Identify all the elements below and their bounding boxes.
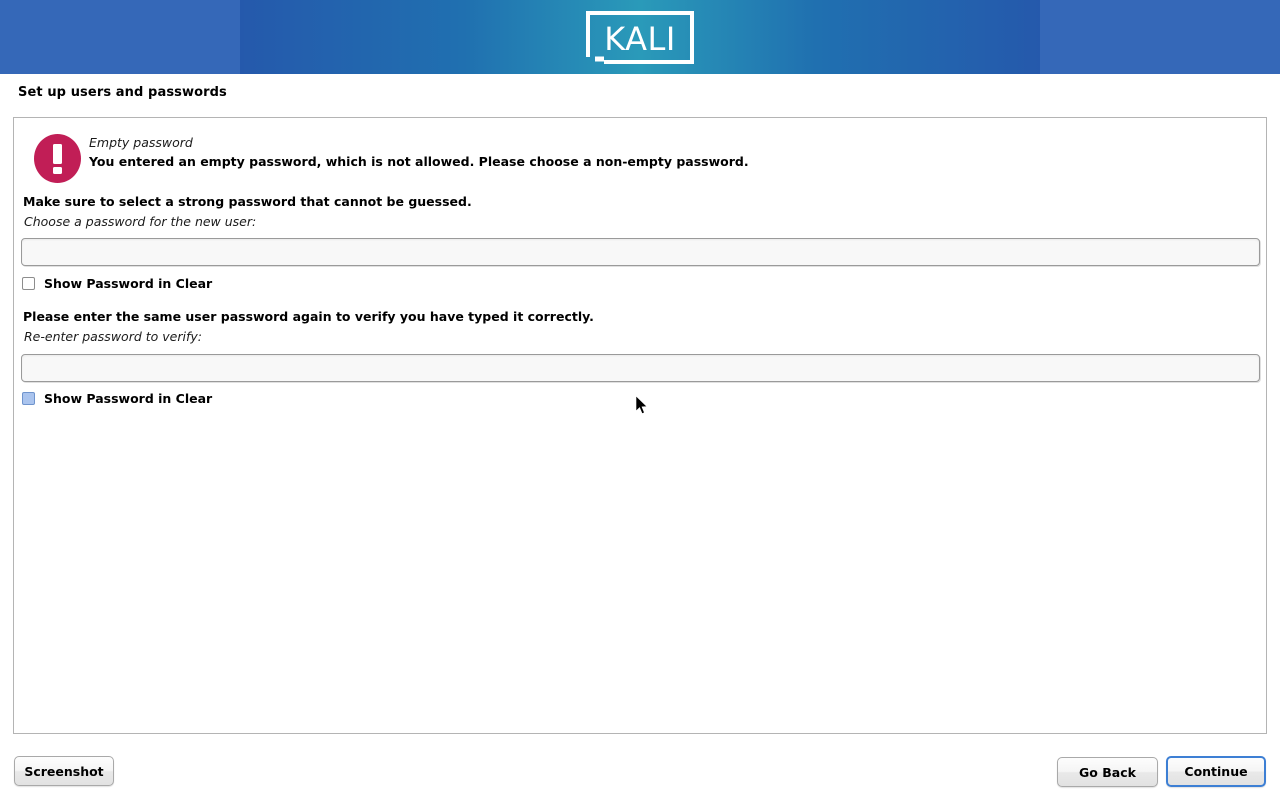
checkbox-box[interactable] — [22, 392, 35, 405]
show-password-label-2: Show Password in Clear — [44, 391, 212, 406]
alert-body: You entered an empty password, which is … — [89, 154, 749, 169]
show-password-checkbox-2[interactable]: Show Password in Clear — [22, 391, 212, 406]
verify-password-note: Please enter the same user password agai… — [23, 309, 594, 324]
verify-field-label: Re-enter password to verify: — [24, 329, 202, 344]
password-strength-note: Make sure to select a strong password th… — [23, 194, 472, 209]
password-input[interactable] — [21, 238, 1260, 266]
show-password-checkbox-1[interactable]: Show Password in Clear — [22, 276, 212, 291]
page-title: Set up users and passwords — [18, 85, 227, 100]
main-content-panel: Empty password You entered an empty pass… — [13, 117, 1267, 734]
kali-banner: KALI — [0, 0, 1280, 74]
error-alert: Empty password You entered an empty pass… — [21, 126, 1251, 186]
continue-button[interactable]: Continue — [1166, 756, 1266, 787]
verify-password-input[interactable] — [21, 354, 1260, 382]
show-password-label-1: Show Password in Clear — [44, 276, 212, 291]
password-field-label: Choose a password for the new user: — [24, 214, 256, 229]
screenshot-button[interactable]: Screenshot — [14, 756, 114, 786]
checkbox-box[interactable] — [22, 277, 35, 290]
go-back-button[interactable]: Go Back — [1057, 757, 1158, 787]
svg-text:KALI: KALI — [604, 20, 676, 58]
error-exclamation-icon — [34, 134, 81, 183]
alert-heading: Empty password — [89, 135, 193, 150]
kali-logo-icon: KALI — [584, 9, 696, 66]
